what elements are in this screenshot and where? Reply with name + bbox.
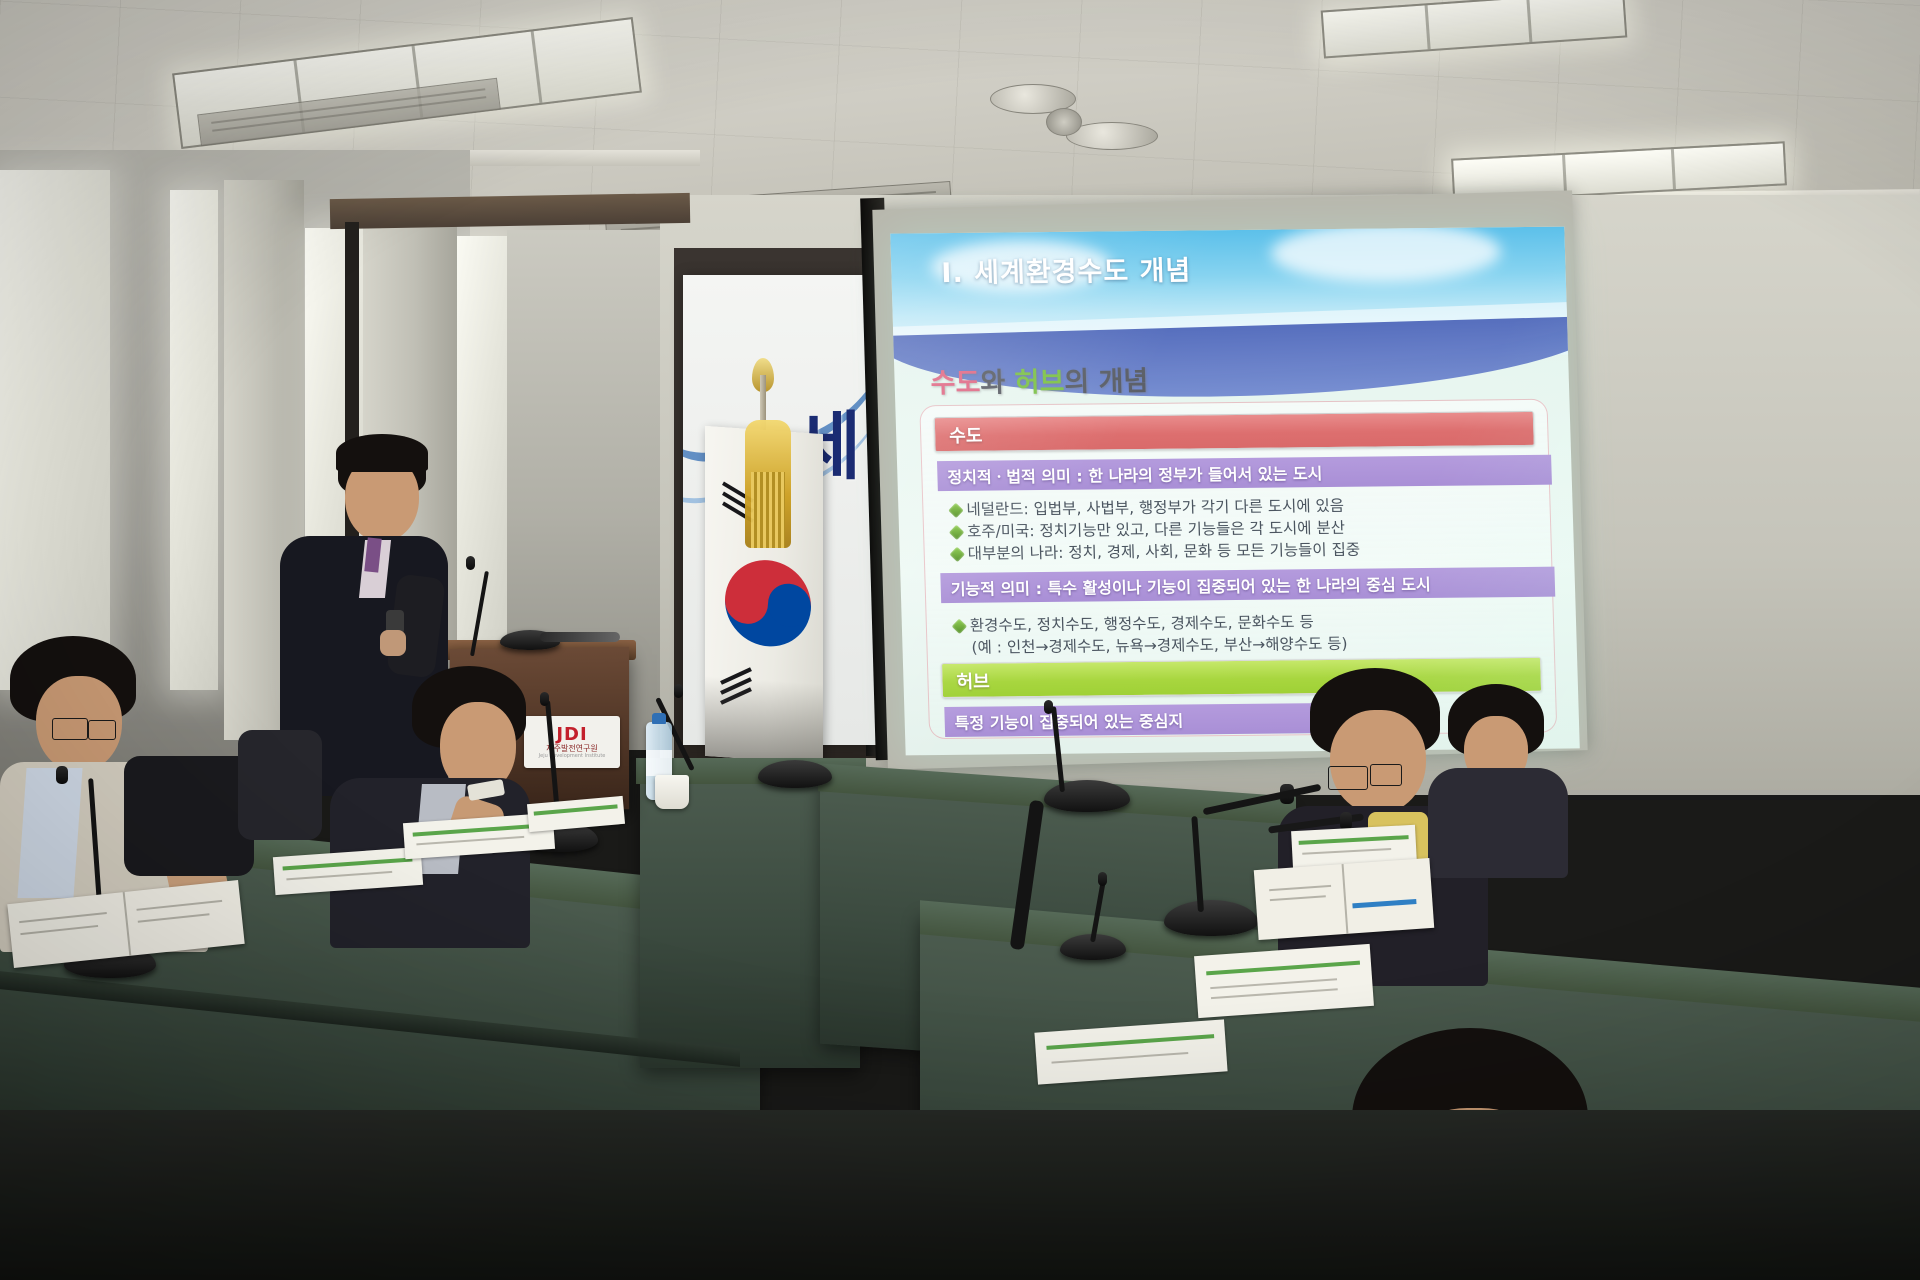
bullet-list-functional: 환경수도, 정치수도, 행정수도, 경제수도, 문화수도 등 (예 : 인천→경… [954, 611, 1348, 659]
flag-shadow [705, 676, 823, 764]
attendee-4-jacket [1428, 768, 1568, 878]
table-mic-head-2 [540, 692, 549, 706]
bullet-text: 대부분의 나라: 정치, 경제, 사회, 문화 등 모든 기능들이 집중 [967, 539, 1360, 565]
slide-header-title: Ⅰ. 세계환경수도 개념 [941, 248, 1192, 290]
table-mic-head-1 [56, 766, 68, 784]
conference-room-photo: 세 Ⅰ. 세계환경수도 개념 수도와 허브의 개념 수도 정치적ㆍ법적 의미 :… [0, 0, 1920, 1280]
attendee-left-shirt [17, 768, 82, 898]
floor [0, 1110, 1920, 1280]
window-pane-1 [170, 190, 218, 690]
jdi-abbrev: JDI [556, 726, 587, 744]
definition-political-legal: 정치적ㆍ법적 의미 : 한 나라의 정부가 들어서 있는 도시 [937, 455, 1552, 491]
window-pane-3 [455, 236, 507, 686]
diamond-bullet-icon [948, 502, 964, 518]
taeguk-symbol [725, 557, 811, 649]
ceiling-sensor [1046, 108, 1082, 136]
paper-handout-5 [1194, 944, 1374, 1018]
attendee-left-glasses [52, 718, 88, 740]
bottle-label [646, 750, 672, 776]
diamond-bullet-icon [952, 618, 968, 634]
definition-functional: 기능적 의미 : 특수 활성이나 기능이 집중되어 있는 한 나라의 중심 도시 [940, 567, 1555, 603]
window-pane-0 [0, 170, 110, 690]
chair-backrest-2 [238, 730, 322, 840]
attendee-left-glasses [88, 720, 116, 740]
diamond-bullet-icon [949, 524, 965, 540]
table-mic-base-5 [1164, 900, 1258, 936]
table-mic-head-6 [1098, 872, 1107, 886]
slide-heading: 수도와 허브의 개념 [930, 359, 1149, 400]
bullet-list-political: 네덜란드: 입법부, 사법부, 행정부가 각기 다른 도시에 있음 호주/미국:… [950, 495, 1360, 565]
wall-trim-beam [330, 193, 690, 229]
flag-tassel [745, 420, 791, 548]
paper-cup [655, 775, 689, 809]
table-mic-base-4 [1044, 780, 1130, 812]
definition-hub: 특정 기능이 집중되어 있는 중심지 [944, 703, 1345, 737]
bottle-cap [652, 713, 666, 724]
jdi-logo-plaque: JDI 제주발전연구원 Jeju Development Institute [524, 716, 620, 768]
attendee-right-glasses [1370, 764, 1402, 786]
attendee-right-face [1330, 710, 1426, 814]
heading-part-wa: 와 [980, 367, 1015, 398]
heading-part-concept: 의 개념 [1064, 366, 1149, 398]
podium-mic-head [466, 556, 475, 570]
section-banner-sudo: 수도 [934, 411, 1535, 452]
presenter-hand [380, 630, 406, 656]
projected-slide: Ⅰ. 세계환경수도 개념 수도와 허브의 개념 수도 정치적ㆍ법적 의미 : 한… [890, 227, 1580, 756]
section-banner-hub: 허브 [941, 657, 1542, 698]
chair-backrest [124, 756, 254, 876]
heading-part-sudo: 수도 [930, 368, 981, 400]
podium-mic-cable [540, 632, 620, 642]
diamond-bullet-icon [949, 546, 965, 562]
presenter-hair-top [336, 434, 428, 472]
table-mic-head-3 [674, 684, 683, 698]
table-mic-base-3 [758, 760, 832, 788]
list-item: 대부분의 나라: 정치, 경제, 사회, 문화 등 모든 기능들이 집중 [951, 539, 1360, 565]
table-mic-head-4 [1044, 700, 1053, 714]
heading-part-hub: 허브 [1014, 367, 1065, 399]
open-book-right [1254, 858, 1434, 940]
attendee-right-glasses [1328, 766, 1368, 790]
bullet-subnote: (예 : 인천→경제수도, 뉴욕→경제수도, 부산→해양수도 등) [954, 633, 1348, 659]
